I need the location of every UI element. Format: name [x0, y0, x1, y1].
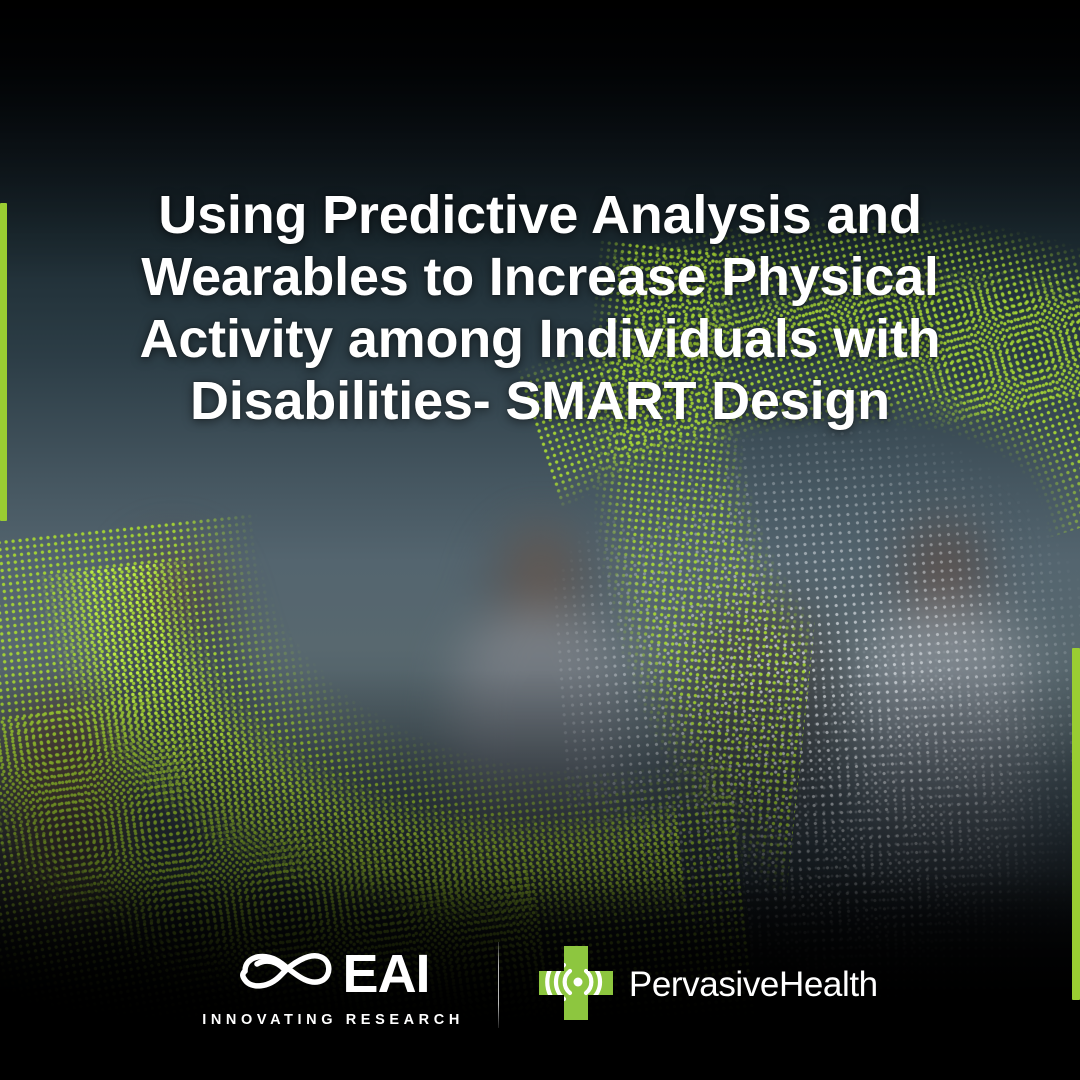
title-line-3: Activity among Individuals with	[96, 308, 984, 370]
eai-tagline: INNOVATING RESEARCH	[202, 1012, 464, 1028]
medical-cross-signal-icon	[537, 944, 615, 1027]
title-line-2: Wearables to Increase Physical	[96, 246, 984, 308]
pervasive-health-wordmark: PervasiveHealth	[629, 965, 878, 1005]
footer-logo-lockup: EAI INNOVATING RESEARCH	[0, 942, 1080, 1028]
infinity-loop-icon	[237, 942, 335, 1005]
pervasive-health-logo: PervasiveHealth	[537, 944, 878, 1027]
poster-canvas: Using Predictive Analysis and Wearables …	[0, 0, 1080, 1080]
eai-mark: EAI	[237, 942, 430, 1005]
title-line-4: Disabilities- SMART Design	[96, 370, 984, 432]
poster-title: Using Predictive Analysis and Wearables …	[0, 184, 1080, 432]
eai-wordmark: EAI	[343, 947, 430, 1001]
title-line-1: Using Predictive Analysis and	[96, 184, 984, 246]
eai-logo: EAI INNOVATING RESEARCH	[202, 942, 498, 1028]
vertical-divider	[498, 942, 499, 1028]
